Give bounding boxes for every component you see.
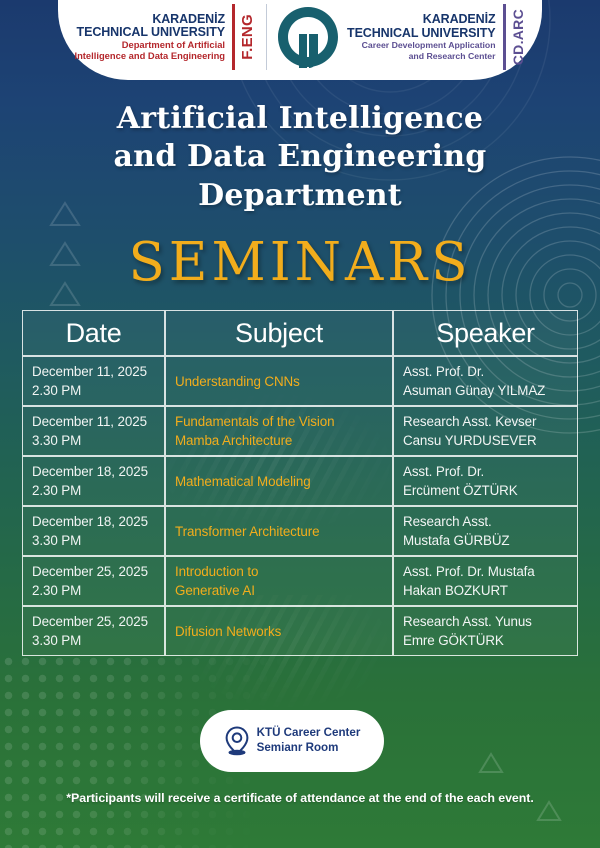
subject-line2: Mamba Architecture	[175, 431, 383, 450]
cell-subject: Transformer Architecture	[165, 506, 393, 556]
date-line2: 3.30 PM	[32, 431, 155, 450]
date-line1: December 18, 2025	[32, 512, 155, 531]
cell-speaker: Asst. Prof. Dr. Mustafa Hakan BOZKURT	[393, 556, 578, 606]
left-unit-line1: Department of Artificial	[74, 40, 225, 51]
speaker-line2: Emre GÖKTÜRK	[403, 631, 568, 650]
cell-speaker: Research Asst. Mustafa GÜRBÜZ	[393, 506, 578, 556]
venue-text: KTÜ Career Center Semianr Room	[257, 726, 361, 755]
right-unit-line1: Career Development Application	[347, 40, 495, 50]
date-line1: December 18, 2025	[32, 462, 155, 481]
date-line2: 2.30 PM	[32, 381, 155, 400]
page-title: Artificial Intelligence and Data Enginee…	[0, 100, 600, 215]
speaker-line2: Hakan BOZKURT	[403, 581, 568, 600]
subject-line1: Introduction to	[175, 562, 383, 581]
table-row: December 18, 2025 3.30 PM Transformer Ar…	[22, 506, 578, 556]
faculty-logo: KARADENİZ TECHNICAL UNIVERSITY Departmen…	[74, 0, 256, 74]
logo-band: KARADENİZ TECHNICAL UNIVERSITY Departmen…	[58, 0, 542, 80]
speaker-line1: Research Asst. Kevser	[403, 412, 568, 431]
date-line1: December 11, 2025	[32, 362, 155, 381]
speaker-line2: Asuman Günay YILMAZ	[403, 381, 568, 400]
speaker-line1: Asst. Prof. Dr.	[403, 462, 568, 481]
right-university-line2: TECHNICAL UNIVERSITY	[347, 27, 495, 41]
table-row: December 11, 2025 2.30 PM Understanding …	[22, 356, 578, 406]
table-row: December 25, 2025 3.30 PM Difusion Netwo…	[22, 606, 578, 656]
speaker-line2: Mustafa GÜRBÜZ	[403, 531, 568, 550]
cell-date: December 11, 2025 3.30 PM	[22, 406, 165, 456]
right-unit-line2: and Research Center	[347, 51, 495, 61]
department-title-line3: Department	[0, 177, 600, 215]
speaker-line1: Research Asst.	[403, 512, 568, 531]
red-rule-divider	[232, 4, 235, 70]
purple-rule-divider	[503, 4, 506, 70]
left-university-line2: TECHNICAL UNIVERSITY	[74, 26, 225, 40]
venue-badge: KTÜ Career Center Semianr Room	[200, 710, 384, 772]
department-title-line1: Artificial Intelligence	[0, 100, 600, 138]
speaker-line1: Asst. Prof. Dr. Mustafa	[403, 562, 568, 581]
triangle-decoration-a	[478, 752, 504, 779]
cell-speaker: Asst. Prof. Dr. Ercüment ÖZTÜRK	[393, 456, 578, 506]
subject-line1: Transformer Architecture	[175, 522, 383, 541]
cell-speaker: Asst. Prof. Dr. Asuman Günay YILMAZ	[393, 356, 578, 406]
speaker-line1: Research Asst. Yunus	[403, 612, 568, 631]
cell-subject: Fundamentals of the Vision Mamba Archite…	[165, 406, 393, 456]
column-header-subject: Subject	[165, 310, 393, 356]
headline-seminars: SEMINARS	[0, 232, 600, 293]
map-pin-icon	[224, 726, 250, 756]
table-row: December 25, 2025 2.30 PM Introduction t…	[22, 556, 578, 606]
left-university-line1: KARADENİZ	[74, 13, 225, 27]
subject-line2: Generative AI	[175, 581, 383, 600]
footnote: *Participants will receive a certificate…	[0, 791, 600, 805]
seminar-poster: KARADENİZ TECHNICAL UNIVERSITY Departmen…	[0, 0, 600, 848]
cell-date: December 25, 2025 2.30 PM	[22, 556, 165, 606]
date-line2: 3.30 PM	[32, 631, 155, 650]
cell-date: December 18, 2025 3.30 PM	[22, 506, 165, 556]
cell-date: December 25, 2025 3.30 PM	[22, 606, 165, 656]
cell-speaker: Research Asst. Kevser Cansu YURDUSEVER	[393, 406, 578, 456]
date-line1: December 25, 2025	[32, 562, 155, 581]
subject-line1: Mathematical Modeling	[175, 472, 383, 491]
table-row: December 18, 2025 2.30 PM Mathematical M…	[22, 456, 578, 506]
column-header-speaker: Speaker	[393, 310, 578, 356]
venue-line1: KTÜ Career Center	[257, 726, 361, 741]
speaker-line2: Cansu YURDUSEVER	[403, 431, 568, 450]
department-title-line2: and Data Engineering	[0, 138, 600, 176]
right-university-line1: KARADENİZ	[347, 13, 495, 27]
venue-line2: Semianr Room	[257, 741, 361, 756]
subject-line1: Fundamentals of the Vision	[175, 412, 383, 431]
left-unit-line2: Intelligence and Data Engineering	[74, 51, 225, 62]
cell-subject: Mathematical Modeling	[165, 456, 393, 506]
table-body: December 11, 2025 2.30 PM Understanding …	[22, 356, 578, 656]
cell-speaker: Research Asst. Yunus Emre GÖKTÜRK	[393, 606, 578, 656]
career-center-logo: KARADENİZ TECHNICAL UNIVERSITY Career De…	[347, 0, 525, 74]
logo-separator	[266, 4, 267, 70]
cell-subject: Introduction to Generative AI	[165, 556, 393, 606]
date-line1: December 25, 2025	[32, 612, 155, 631]
cell-subject: Difusion Networks	[165, 606, 393, 656]
date-line2: 2.30 PM	[32, 481, 155, 500]
ktu-monogram-icon	[277, 4, 339, 70]
speaker-line2: Ercüment ÖZTÜRK	[403, 481, 568, 500]
date-line2: 2.30 PM	[32, 581, 155, 600]
subject-line1: Difusion Networks	[175, 622, 383, 641]
column-header-date: Date	[22, 310, 165, 356]
date-line1: December 11, 2025	[32, 412, 155, 431]
speaker-line1: Asst. Prof. Dr.	[403, 362, 568, 381]
career-center-vertical-tag: CD.ARC	[510, 9, 526, 65]
cell-date: December 11, 2025 2.30 PM	[22, 356, 165, 406]
table-row: December 11, 2025 3.30 PM Fundamentals o…	[22, 406, 578, 456]
subject-line1: Understanding CNNs	[175, 372, 383, 391]
table-header-row: Date Subject Speaker	[22, 310, 578, 356]
faculty-vertical-tag: F.ENG	[239, 14, 256, 60]
date-line2: 3.30 PM	[32, 531, 155, 550]
seminar-schedule-table: Date Subject Speaker December 11, 2025 2…	[22, 310, 578, 656]
cell-subject: Understanding CNNs	[165, 356, 393, 406]
cell-date: December 18, 2025 2.30 PM	[22, 456, 165, 506]
